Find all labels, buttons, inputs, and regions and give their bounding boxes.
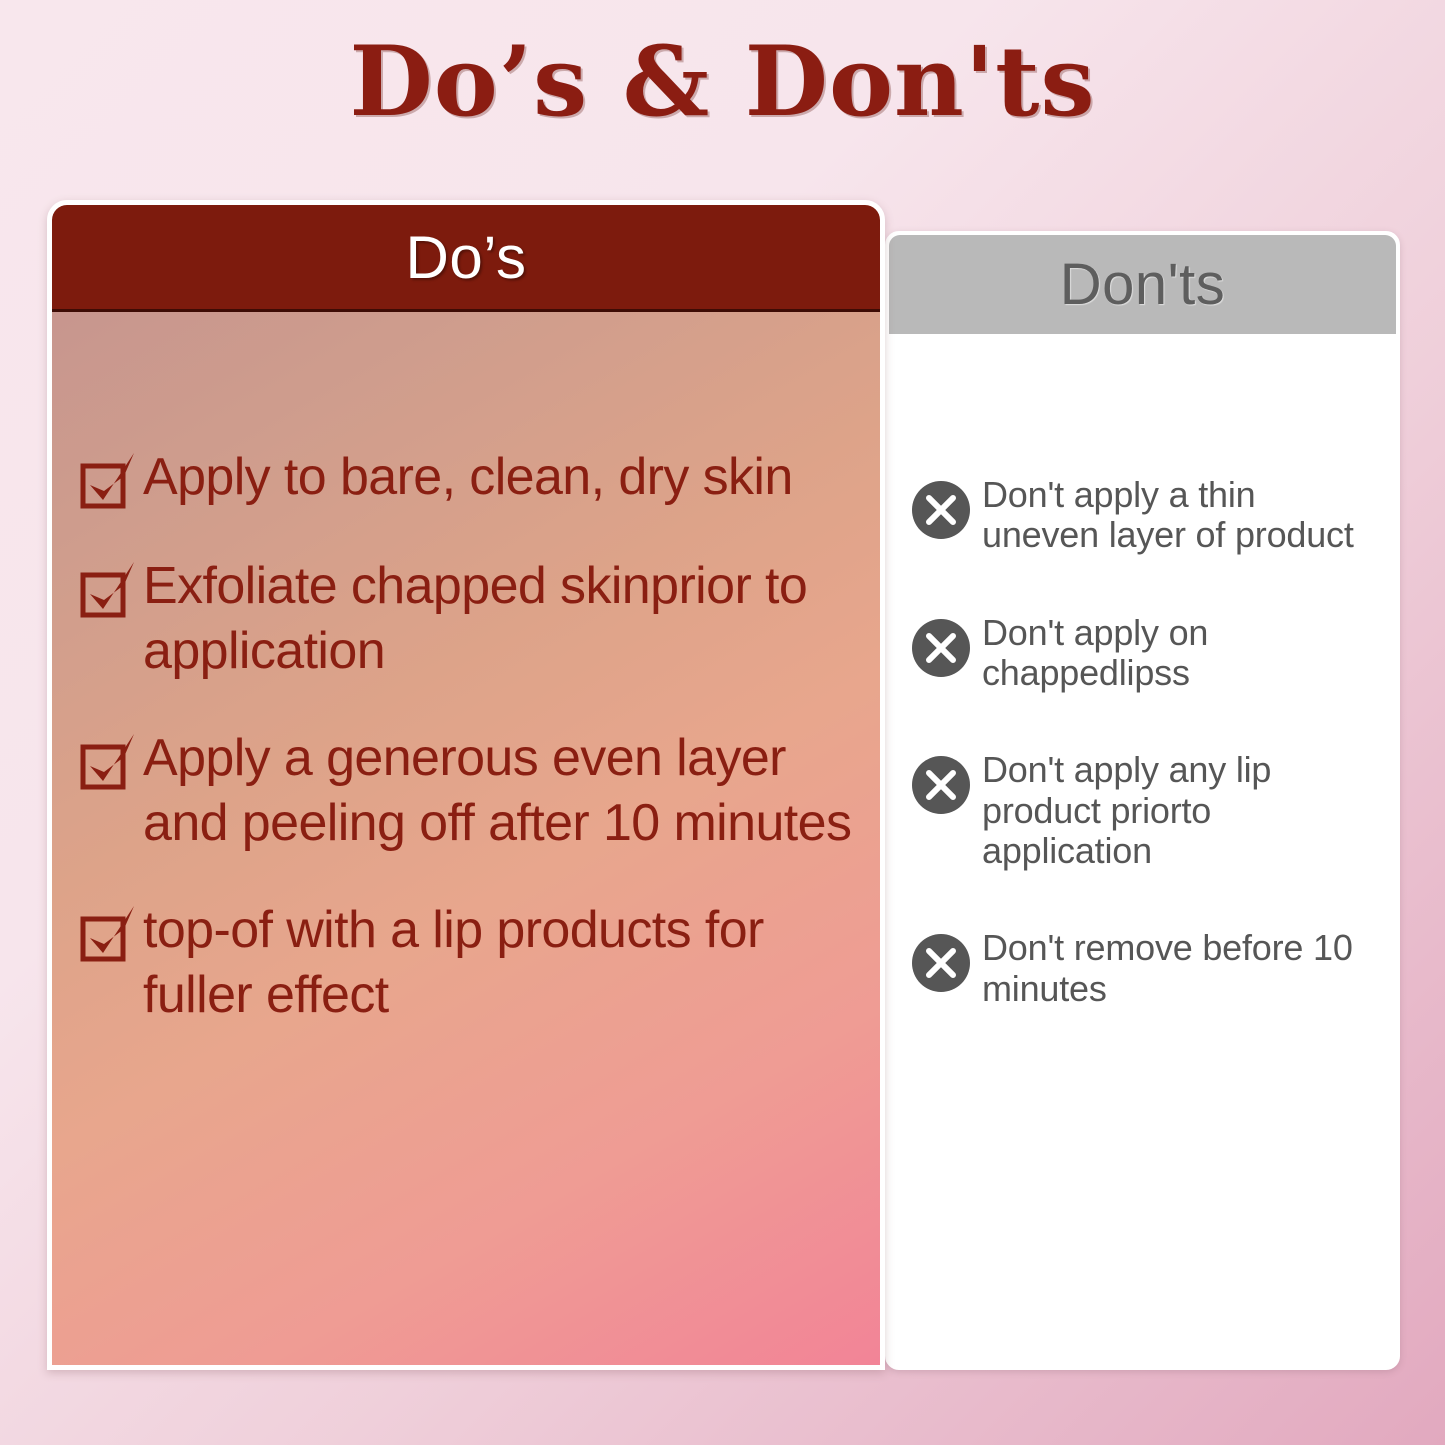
check-box-icon bbox=[77, 559, 139, 621]
dos-header: Do’s bbox=[52, 205, 880, 312]
page-title: Do’s & Don'ts bbox=[0, 32, 1445, 133]
list-item: Don't apply any lip product priorto appl… bbox=[912, 750, 1382, 871]
donts-list: Don't apply a thin uneven layer of produ… bbox=[912, 475, 1382, 1066]
list-item-label: Don't apply on chappedlipss bbox=[982, 613, 1382, 694]
x-circle-icon bbox=[912, 934, 970, 992]
list-item-label: Apply a generous even layer and peeling … bbox=[143, 726, 877, 856]
list-item: Apply a generous even layer and peeling … bbox=[77, 726, 877, 856]
list-item: Don't apply on chappedlipss bbox=[912, 613, 1382, 694]
list-item-label: top-of with a lip products for fuller ef… bbox=[143, 898, 877, 1028]
list-item-label: Apply to bare, clean, dry skin bbox=[143, 445, 793, 510]
donts-header: Don'ts bbox=[889, 235, 1396, 334]
list-item: Apply to bare, clean, dry skin bbox=[77, 445, 877, 512]
x-circle-icon bbox=[912, 619, 970, 677]
list-item: Don't apply a thin uneven layer of produ… bbox=[912, 475, 1382, 556]
dos-list: Apply to bare, clean, dry skin Exfoliate… bbox=[77, 445, 877, 1070]
list-item-label: Don't apply any lip product priorto appl… bbox=[982, 750, 1382, 871]
list-item-label: Don't apply a thin uneven layer of produ… bbox=[982, 475, 1382, 556]
list-item-label: Exfoliate chapped skinprior to applicati… bbox=[143, 554, 877, 684]
list-item-label: Don't remove before 10 minutes bbox=[982, 928, 1382, 1009]
x-circle-icon bbox=[912, 756, 970, 814]
x-circle-icon bbox=[912, 481, 970, 539]
donts-header-label: Don'ts bbox=[1060, 251, 1226, 318]
check-box-icon bbox=[77, 731, 139, 793]
dos-panel: Do’s Apply to bare, clean, dry skin Exfo… bbox=[47, 200, 885, 1370]
dos-header-label: Do’s bbox=[406, 223, 527, 292]
list-item: Don't remove before 10 minutes bbox=[912, 928, 1382, 1009]
donts-panel: Don'ts Don't apply a thin uneven layer o… bbox=[885, 231, 1400, 1370]
check-box-icon bbox=[77, 903, 139, 965]
list-item: Exfoliate chapped skinprior to applicati… bbox=[77, 554, 877, 684]
list-item: top-of with a lip products for fuller ef… bbox=[77, 898, 877, 1028]
check-box-icon bbox=[77, 450, 139, 512]
